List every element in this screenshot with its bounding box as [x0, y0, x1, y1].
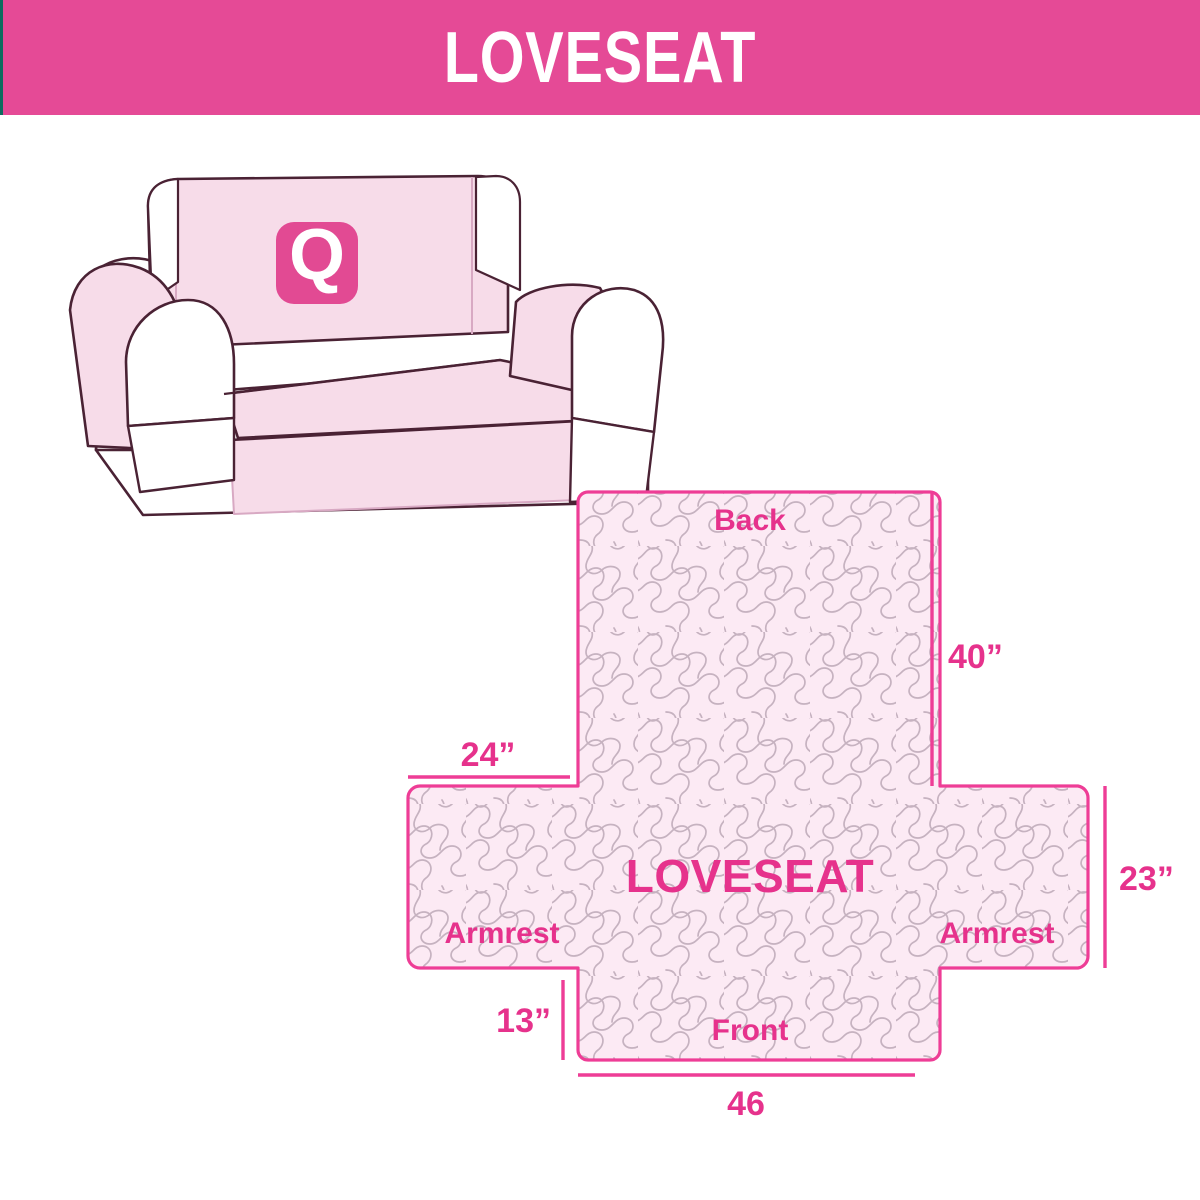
dimension-value-23: 23” [1119, 860, 1174, 898]
dimension-back-width: 24” [408, 736, 570, 777]
product-dimension-card: LOVESEAT [0, 0, 1200, 1200]
cover-flat-layout-diagram: Back Armrest Armrest Front LOVESEAT 40” … [380, 460, 1200, 1140]
panel-label-back: Back [714, 504, 786, 537]
dimension-armrest-height: 23” [1105, 786, 1174, 968]
page-title: LOVESEAT [120, 0, 1080, 115]
dimension-value-40: 40” [948, 638, 1003, 676]
dimension-value-13: 13” [496, 1002, 551, 1040]
header-edge-strip [0, 0, 3, 115]
center-label-loveseat: LOVESEAT [626, 850, 875, 902]
sofa-left-arm-front-face [128, 418, 234, 492]
dimension-front-width: 46 [578, 1075, 915, 1123]
dimension-value-24: 24” [461, 736, 516, 774]
sofa-right-back-cap [476, 176, 520, 290]
logo-letter: Q [289, 215, 345, 295]
dimension-back-height: 40” [932, 492, 1003, 786]
sofa-left-arm-roll [126, 300, 234, 426]
dimension-value-46: 46 [727, 1085, 765, 1123]
panel-label-armrest-right: Armrest [939, 917, 1054, 950]
panel-label-armrest-left: Armrest [444, 917, 559, 950]
dimension-front-height: 13” [496, 980, 563, 1060]
brand-logo-badge: Q [276, 215, 358, 304]
header-banner: LOVESEAT [0, 0, 1200, 115]
panel-label-front: Front [712, 1014, 789, 1047]
sofa-right-arm-roll [572, 288, 663, 432]
